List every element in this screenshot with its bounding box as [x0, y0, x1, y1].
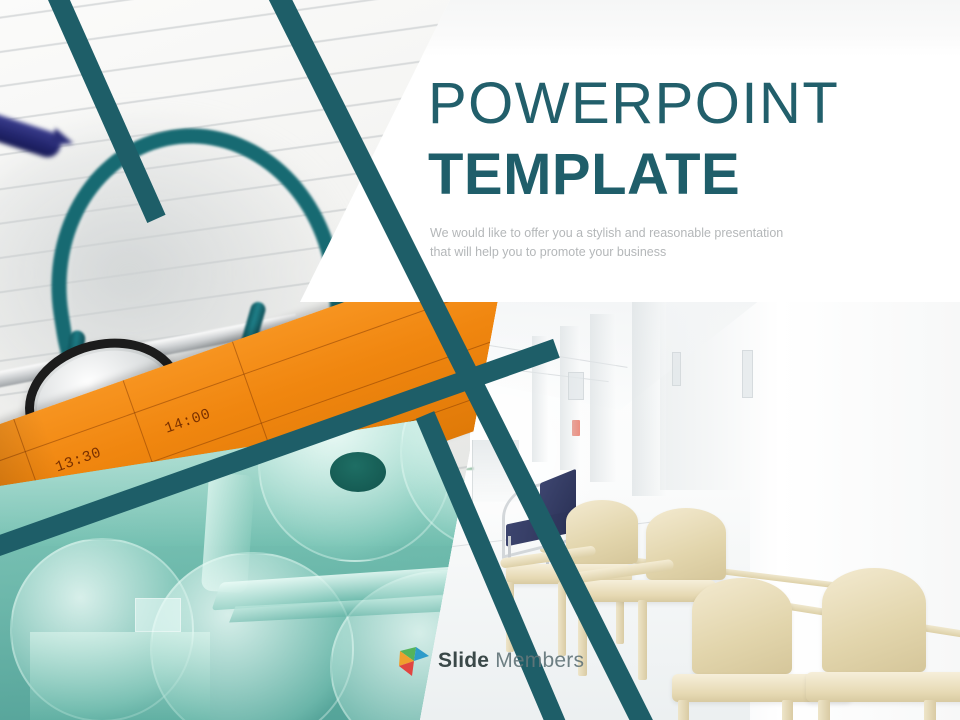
wall-sign	[742, 350, 753, 398]
presentation-slide: 13:30 13:45 14:00	[0, 0, 960, 720]
wooden-chair-2	[570, 508, 710, 678]
corridor-door	[590, 314, 616, 482]
chair-leg	[678, 700, 689, 720]
slide-members-logo[interactable]: Slide Members	[396, 643, 584, 679]
wall-sign	[568, 372, 584, 400]
chair-back	[692, 578, 792, 674]
chair-seat	[806, 672, 960, 702]
chair-leg	[638, 600, 647, 680]
or-cabinet	[30, 632, 210, 720]
logo-wordmark: Slide Members	[438, 649, 584, 673]
page-title-line-1: POWERPOINT	[428, 74, 928, 133]
surgical-light-port	[330, 452, 386, 492]
chair-leg	[818, 700, 830, 720]
pinwheel-icon	[396, 643, 432, 679]
corridor-door	[632, 300, 666, 496]
chair-leg	[782, 700, 793, 720]
page-title-line-2: TEMPLATE	[428, 145, 928, 204]
or-monitor	[135, 598, 181, 632]
logo-word-members: Members	[495, 649, 584, 672]
wall-sign	[672, 352, 681, 386]
subtitle-text: We would like to offer you a stylish and…	[430, 224, 810, 262]
subtitle-line-1: We would like to offer you a stylish and…	[430, 224, 810, 243]
title-block: POWERPOINT TEMPLATE We would like to off…	[428, 74, 928, 262]
logo-word-slide: Slide	[438, 649, 489, 672]
subtitle-line-2: that will help you to promote your busin…	[430, 243, 810, 262]
card-time-1400: 14:00	[163, 406, 213, 438]
chair-leg	[924, 700, 936, 720]
wooden-chair-4	[812, 568, 960, 720]
chair-back	[822, 568, 926, 672]
